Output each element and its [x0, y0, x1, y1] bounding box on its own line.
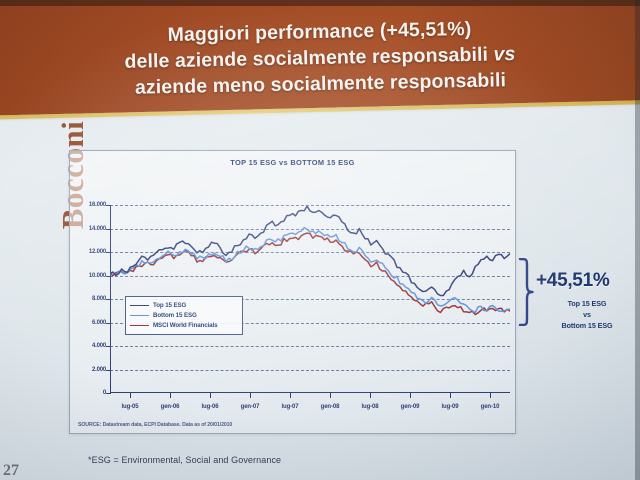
slide-title: Maggiori performance (+45,51%) delle azi…	[0, 0, 640, 124]
legend-item: Top 15 ESG	[130, 300, 238, 310]
x-tick	[210, 393, 211, 398]
callout-subtitle-line-3: Bottom 15 ESG	[536, 321, 638, 330]
x-axis-label: lug-07	[281, 404, 298, 410]
chart-source-note: SOURCE: Datastream data, ECPI Database. …	[78, 422, 232, 428]
y-axis-label: 16.000	[89, 202, 106, 208]
x-tick	[170, 393, 171, 398]
y-axis-label: 4.000	[92, 343, 106, 349]
legend-swatch-top-15-esg	[130, 305, 149, 306]
x-axis-label: lug-08	[361, 404, 378, 410]
callout-subtitle-line-1: Top 15 ESG	[536, 299, 638, 308]
x-tick	[290, 393, 291, 398]
x-axis-label: gen-09	[401, 404, 420, 410]
chart-legend: Top 15 ESG Bottom 15 ESG MSCI World Fina…	[125, 296, 243, 335]
y-axis-label: 10.000	[89, 273, 106, 279]
x-tick	[450, 393, 451, 398]
curly-brace-icon	[518, 258, 534, 326]
slide-canvas: Maggiori performance (+45,51%) delle azi…	[0, 0, 640, 480]
x-axis-label: gen-08	[321, 404, 340, 410]
x-tick	[370, 393, 371, 398]
y-axis-label: 2.000	[92, 367, 106, 373]
x-axis-label: gen-07	[241, 404, 260, 410]
chart-title: TOP 15 ESG vs BOTTOM 15 ESG	[70, 158, 515, 167]
photo-edge-top	[0, 0, 640, 6]
legend-label: Top 15 ESG	[153, 302, 186, 309]
y-axis-label: 0	[103, 390, 106, 396]
legend-item: Bottom 15 ESG	[130, 310, 238, 320]
x-tick	[410, 393, 411, 398]
y-axis-label: 8.000	[92, 296, 106, 302]
callout-percent: +45,51%	[536, 270, 609, 292]
legend-item: MSCI World Financials	[130, 321, 238, 331]
y-axis-label: 14.000	[89, 226, 106, 232]
legend-swatch-bottom-15-esg	[130, 315, 149, 316]
x-axis-label: lug-05	[121, 404, 138, 410]
x-tick	[330, 393, 331, 398]
photo-edge-right	[635, 0, 640, 480]
y-axis-label: 12.000	[89, 249, 106, 255]
y-axis-label: 6.000	[92, 320, 106, 326]
title-line-2-text: delle aziende socialmente responsabili	[124, 44, 493, 73]
series-line	[110, 206, 510, 295]
legend-label: MSCI World Financials	[153, 322, 217, 329]
x-axis-label: lug-09	[441, 404, 458, 410]
x-axis-label: gen-10	[481, 404, 500, 410]
y-tick	[106, 393, 111, 394]
x-tick	[490, 393, 491, 398]
x-tick	[250, 393, 251, 398]
legend-label: Bottom 15 ESG	[153, 312, 197, 319]
x-axis-label: gen-06	[161, 404, 180, 410]
x-axis-label: lug-06	[201, 404, 218, 410]
page-number: 27	[3, 462, 19, 480]
title-line-2-vs: vs	[493, 43, 515, 65]
slide-footnote: *ESG = Environmental, Social and Governa…	[88, 455, 281, 465]
x-tick	[130, 393, 131, 398]
legend-swatch-msci-world-financials	[130, 325, 149, 326]
callout-subtitle-line-2: vs	[536, 310, 638, 319]
chart-container: TOP 15 ESG vs BOTTOM 15 ESG 02.0004.0006…	[69, 150, 516, 434]
